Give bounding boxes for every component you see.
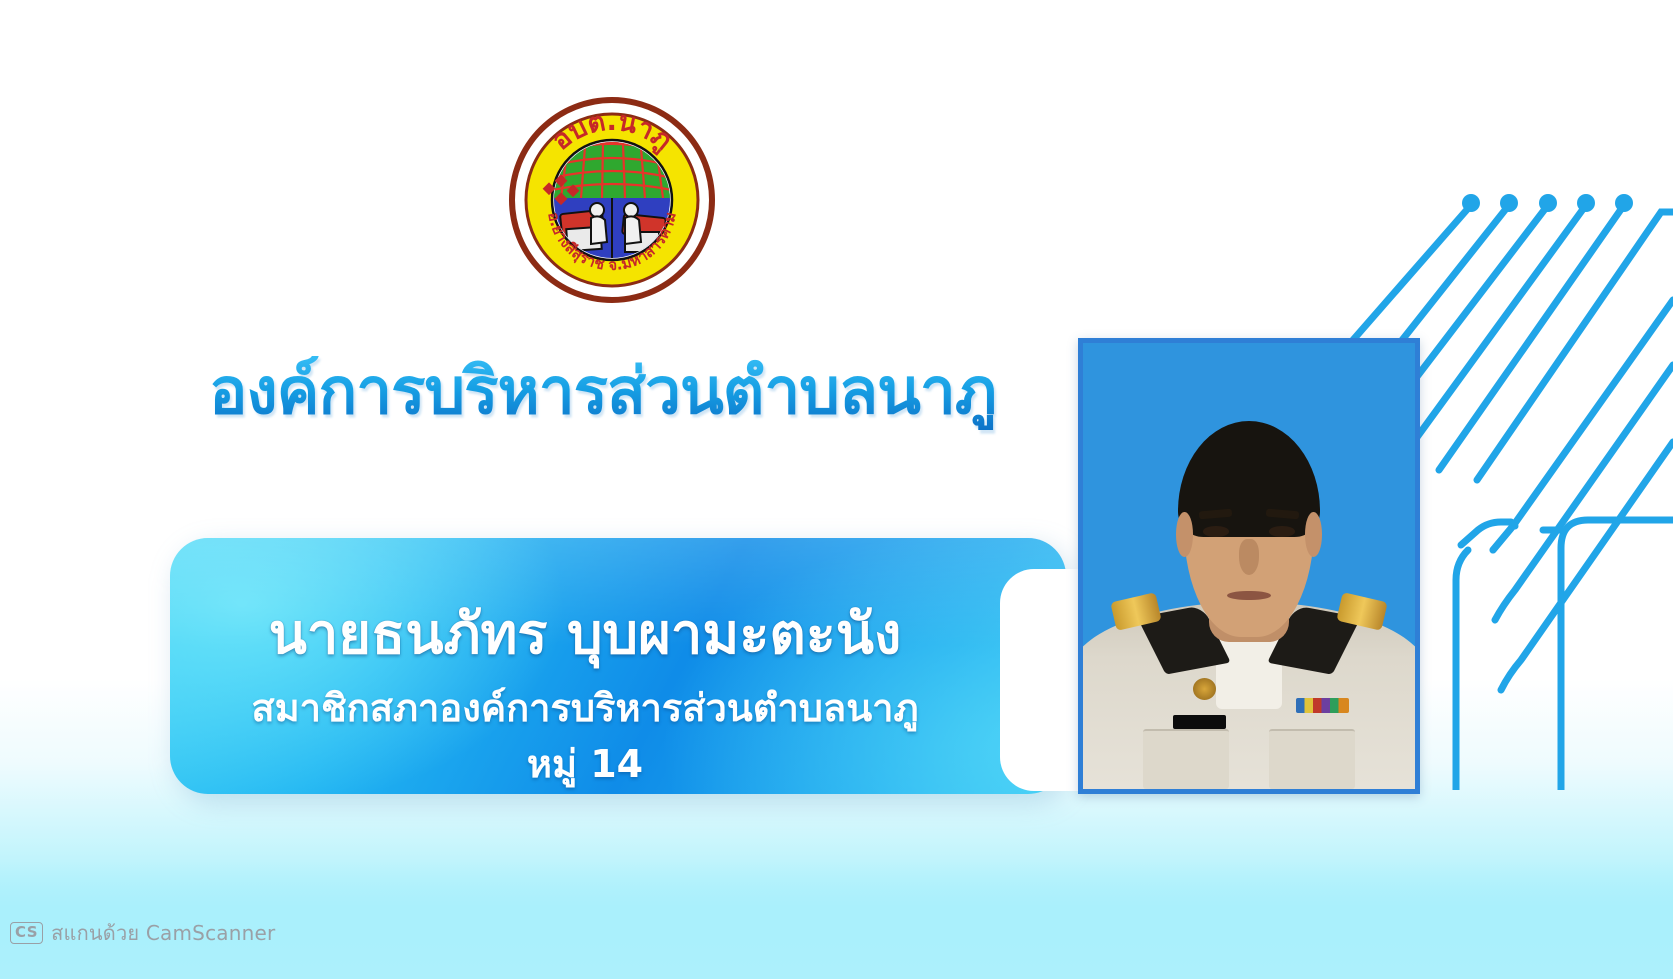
portrait-frame	[1078, 338, 1420, 794]
uniform-pocket-left	[1143, 729, 1229, 789]
portrait-photo	[1083, 343, 1415, 789]
uniform-ribbon-bar	[1296, 698, 1349, 713]
camscanner-badge-icon: CS	[10, 922, 43, 943]
person-ear-left	[1176, 512, 1193, 557]
person-mouth	[1227, 591, 1270, 601]
poster-canvas: อบต.นาภู อ.ยางสีสุราช จ.มหาสารคาม องค์กา…	[0, 0, 1673, 979]
uniform-name-badge	[1173, 715, 1226, 729]
uniform-insignia	[1193, 678, 1216, 700]
person-eye-right	[1269, 526, 1296, 537]
person-hair	[1178, 421, 1321, 537]
person-village: หมู่ 14	[170, 742, 1000, 788]
camscanner-text: สแกนด้วย CamScanner	[51, 917, 275, 949]
person-nose	[1239, 539, 1259, 575]
person-ear-right	[1305, 512, 1322, 557]
camscanner-watermark: CS สแกนด้วย CamScanner	[10, 918, 275, 948]
municipal-logo: อบต.นาภู อ.ยางสีสุราช จ.มหาสารคาม	[505, 88, 720, 308]
person-name: นายธนภัทร บุบผามะตะนัง	[170, 601, 1000, 668]
person-eye-left	[1203, 526, 1230, 537]
person-position: สมาชิกสภาองค์การบริหารส่วนตำบลนาภู	[170, 686, 1000, 732]
organization-title: องค์การบริหารส่วนตำบลนาภู	[0, 356, 1205, 430]
uniform-pocket-right	[1269, 729, 1355, 789]
